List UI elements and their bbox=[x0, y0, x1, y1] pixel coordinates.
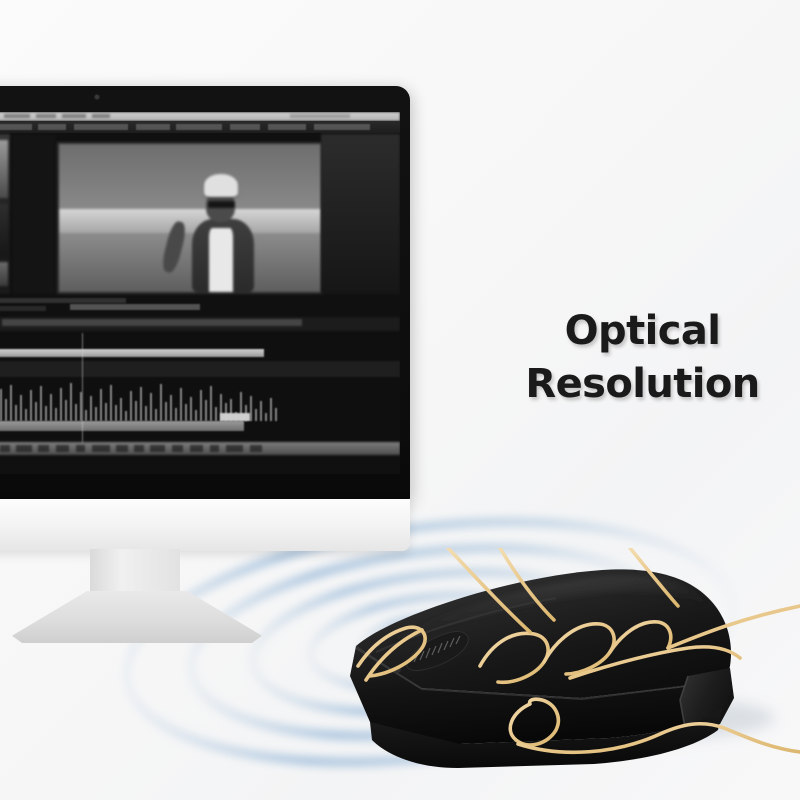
desktop-monitor bbox=[0, 86, 410, 586]
timeline-toolbar[interactable] bbox=[0, 442, 400, 455]
sequence-title-row bbox=[70, 304, 200, 310]
video-figure bbox=[182, 174, 282, 292]
headline-line-1: Optical bbox=[505, 305, 780, 358]
timeline-panel[interactable] bbox=[0, 317, 400, 455]
product-scene: Optical Resolution bbox=[0, 0, 800, 800]
effects-panel[interactable] bbox=[12, 134, 56, 294]
monitor-stand-base bbox=[12, 591, 262, 643]
project-bin-panel[interactable] bbox=[321, 134, 400, 294]
page-title: Optical Resolution bbox=[505, 305, 780, 411]
program-monitor-panel[interactable] bbox=[57, 142, 323, 294]
source-preview-panel[interactable] bbox=[0, 134, 10, 294]
monitor-screen bbox=[0, 112, 400, 474]
clip-info-row bbox=[0, 298, 126, 303]
audio-track-clip-4[interactable] bbox=[220, 413, 250, 421]
audio-track-clip[interactable] bbox=[0, 421, 244, 431]
monitor-chin bbox=[0, 499, 410, 551]
timeline-playhead[interactable] bbox=[82, 333, 83, 453]
timeline-ruler[interactable] bbox=[2, 319, 302, 326]
app-menu-bar[interactable] bbox=[0, 112, 400, 121]
clip-meta-row bbox=[0, 306, 46, 311]
video-track-row[interactable] bbox=[0, 361, 400, 377]
app-tool-bar[interactable] bbox=[0, 121, 400, 133]
camera-dot-icon bbox=[95, 95, 99, 99]
optical-computer-mouse bbox=[330, 548, 800, 800]
headline-line-2: Resolution bbox=[505, 358, 780, 411]
video-track-clip[interactable] bbox=[0, 349, 264, 357]
